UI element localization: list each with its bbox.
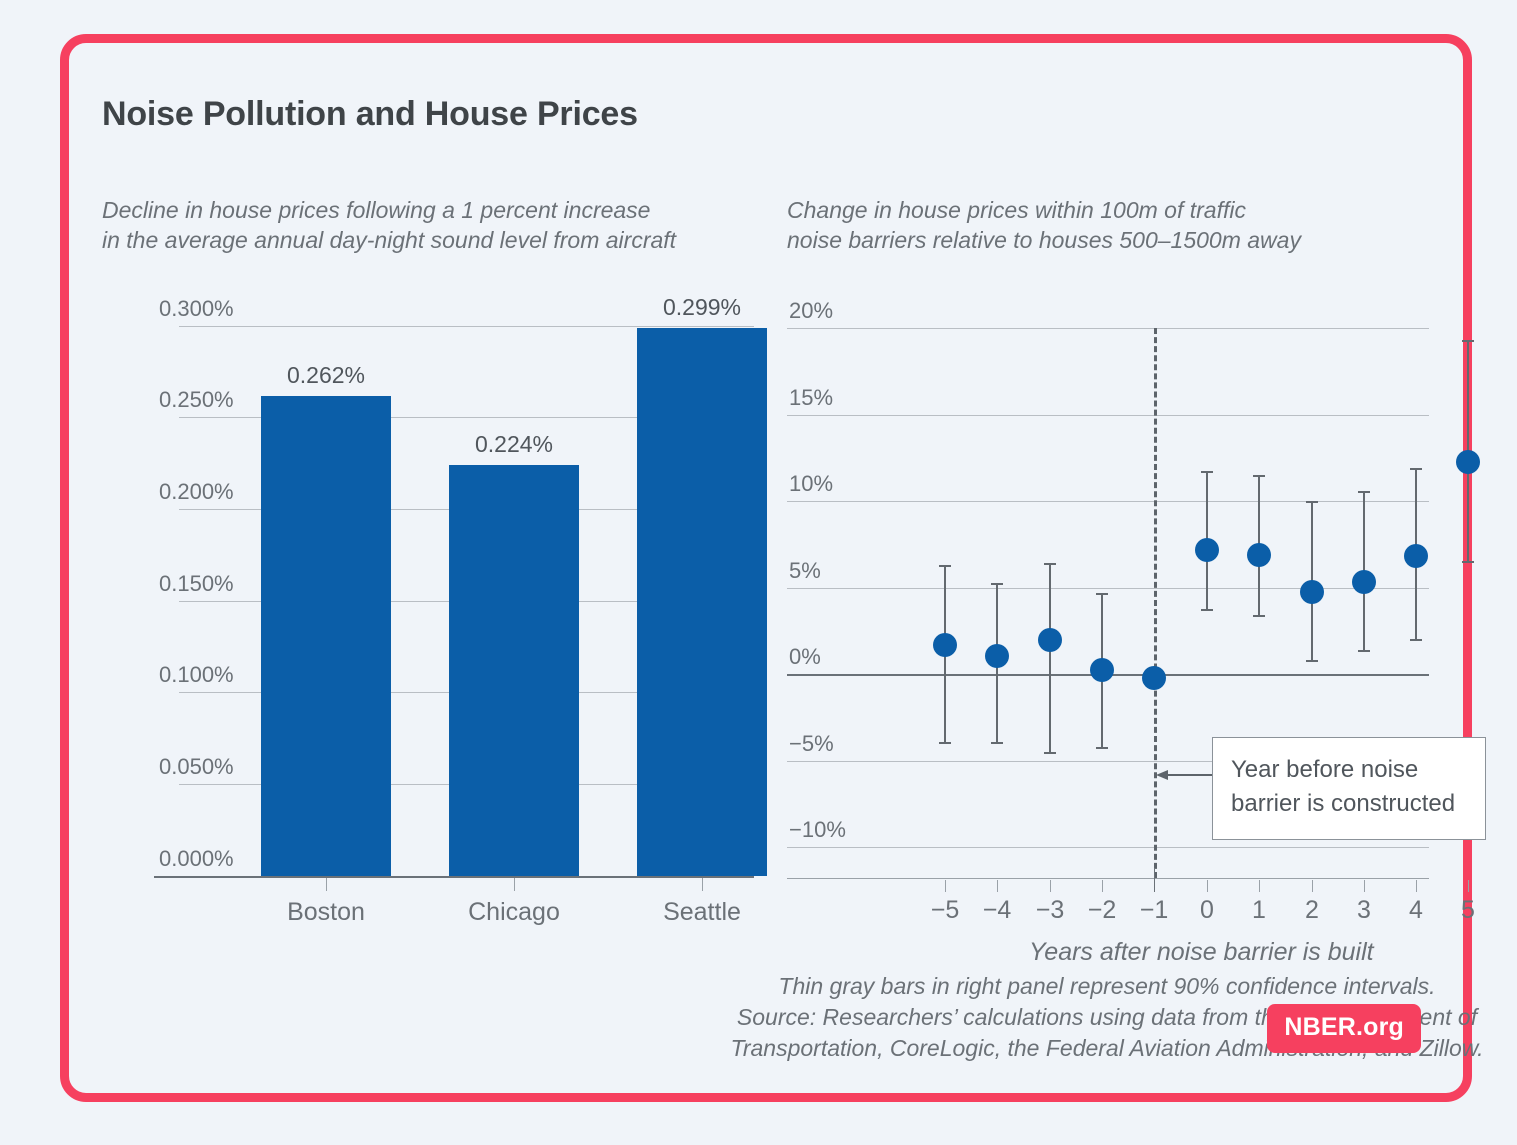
xtick-mark-3 [1364,880,1365,892]
errorbar-cap-top-year-1 [1253,475,1265,477]
datapoint-year--1[interactable] [1142,666,1166,690]
ytick-label-10: 10% [789,471,833,497]
xtick-mark-boston [326,878,327,891]
errorbar-cap-top-year-4 [1410,468,1422,470]
datapoint-year--4[interactable] [985,644,1009,668]
xtick-mark--3 [1050,880,1051,892]
xcat-chicago: Chicago [434,898,594,927]
callout-arrow-icon [1154,765,1214,785]
ytick-label-0250: 0.250% [159,387,234,413]
chart-card: Noise Pollution and House Prices Decline… [60,34,1472,1102]
datapoint-year-4[interactable] [1404,544,1428,568]
errorbar-cap-bottom-year--4 [991,742,1003,744]
xtick-mark--1 [1154,868,1155,892]
errorbar-cap-bottom-year--2 [1096,747,1108,749]
bar-value-chicago: 0.224% [434,431,594,458]
ytick-label-0050: 0.050% [159,754,234,780]
errorbar-cap-bottom-year-0 [1201,609,1213,611]
errorbar-cap-top-year-3 [1358,491,1370,493]
errorbar-cap-bottom-year-3 [1358,650,1370,652]
x-axis-line [787,878,1429,879]
right-chart-subtitle: Change in house prices within 100m of tr… [787,195,1301,255]
errorbar-cap-bottom-year--3 [1044,752,1056,754]
bar-chicago[interactable] [449,465,579,876]
bar-value-seattle: 0.299% [622,294,782,321]
reference-line-year-minus1 [1154,328,1157,878]
page-title: Noise Pollution and House Prices [102,95,638,134]
datapoint-year--5[interactable] [933,633,957,657]
ytick-label-0000: 0.000% [159,846,234,872]
xcat-boston: Boston [246,898,406,927]
bar-boston[interactable] [261,396,391,876]
ytick-label-0100: 0.100% [159,662,234,688]
left-chart-panel: 0.300% 0.250% 0.200% 0.150% 0.100% 0.050… [94,258,764,898]
nber-badge[interactable]: NBER.org [1267,1004,1421,1053]
callout-year-before-barrier: Year before noise barrier is constructed [1212,737,1486,840]
ytick-label-15: 15% [789,385,833,411]
ytick-label-0300: 0.300% [159,296,234,322]
ytick-label-0200: 0.200% [159,479,234,505]
xtick-mark-0 [1207,880,1208,892]
ytick-label-0150: 0.150% [159,571,234,597]
bar-value-boston: 0.262% [246,362,406,389]
xtick-label-5: 5 [1428,896,1508,925]
xtick-mark-4 [1416,880,1417,892]
xtick-mark-1 [1259,880,1260,892]
xtick-mark--4 [997,880,998,892]
gridline-neg10 [787,847,1429,848]
errorbar-cap-bottom-year-4 [1410,639,1422,641]
datapoint-year-0[interactable] [1195,538,1219,562]
datapoint-year--3[interactable] [1038,628,1062,652]
xtick-mark-5 [1468,880,1469,892]
errorbar-cap-bottom-year--5 [939,742,951,744]
gridline-5 [787,588,1429,589]
errorbar-cap-bottom-year-1 [1253,615,1265,617]
errorbar-cap-top-year--5 [939,565,951,567]
ytick-label-5: 5% [789,558,821,584]
gridline-15 [787,415,1429,416]
datapoint-year-2[interactable] [1300,580,1324,604]
ytick-label-neg10: −10% [789,817,846,843]
errorbar-cap-top-year-5 [1462,340,1474,342]
xtick-mark-chicago [514,878,515,891]
gridline-20 [787,328,1429,329]
xtick-mark-seattle [702,878,703,891]
xtick-mark-2 [1312,880,1313,892]
datapoint-year-5[interactable] [1456,450,1480,474]
ytick-label-20: 20% [789,298,833,324]
left-chart-subtitle: Decline in house prices following a 1 pe… [102,195,676,255]
xcat-seattle: Seattle [622,898,782,927]
gridline-10 [787,501,1429,502]
datapoint-year--2[interactable] [1090,658,1114,682]
bar-seattle[interactable] [637,328,767,876]
xtick-mark--5 [945,880,946,892]
x-axis-title: Years after noise barrier is built [1029,938,1374,967]
datapoint-year-1[interactable] [1247,543,1271,567]
errorbar-year--3 [1049,563,1051,753]
errorbar-cap-top-year-0 [1201,471,1213,473]
gridline-0300 [179,326,754,327]
ytick-label-0: 0% [789,644,821,670]
errorbar-cap-top-year--3 [1044,563,1056,565]
errorbar-cap-top-year-2 [1306,501,1318,503]
errorbar-cap-bottom-year-2 [1306,660,1318,662]
ytick-label-neg5: −5% [789,731,834,757]
datapoint-year-3[interactable] [1352,570,1376,594]
errorbar-cap-top-year--4 [991,583,1003,585]
errorbar-cap-top-year--2 [1096,593,1108,595]
errorbar-cap-bottom-year-5 [1462,561,1474,563]
xtick-mark--2 [1102,880,1103,892]
x-axis-line [154,876,754,878]
